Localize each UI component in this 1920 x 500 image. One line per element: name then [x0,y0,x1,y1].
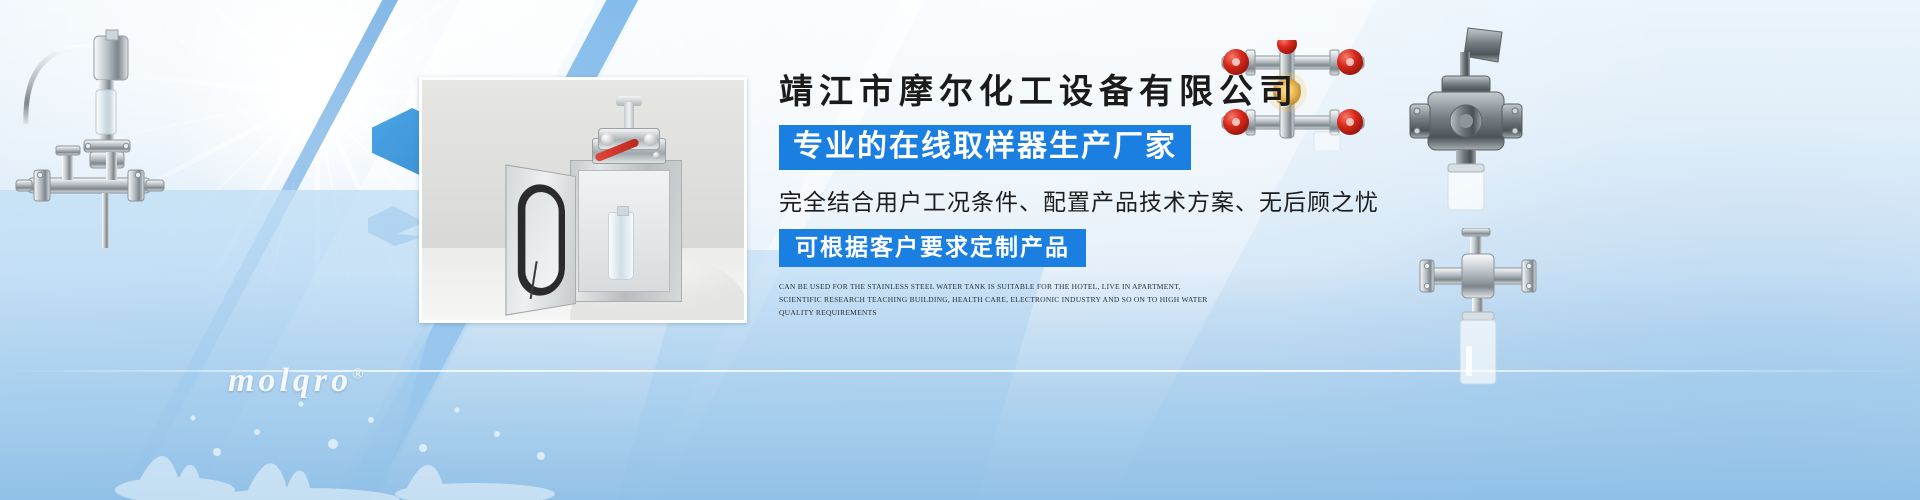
inline-bottle-sampler [1418,228,1538,408]
product-photo [419,77,747,323]
headline-badge: 专业的在线取样器生产厂家 [779,125,1191,170]
registered-trademark-icon: ® [352,367,363,383]
promo-banner: 靖江市摩尔化工设备有限公司 专业的在线取样器生产厂家 完全结合用户工况条件、配置… [0,0,1920,500]
customization-badge: 可根据客户要求定制产品 [779,229,1086,267]
water-splash-graphic [105,360,665,500]
value-proposition-line: 完全结合用户工况条件、配置产品技术方案、无后顾之忧 [779,183,1399,217]
photo-sample-bottle [608,212,634,280]
photo-sampler-head [598,102,660,164]
wall-mounted-sampler-assembly [10,28,170,248]
company-name: 靖江市摩尔化工设备有限公司 [779,72,1399,115]
watermark-text: molqro [228,362,352,399]
photo-open-door [505,164,576,315]
lever-handle-flanged-sampler [1406,22,1526,222]
english-description: CAN BE USED FOR THE STAINLESS STEEL WATE… [779,280,1209,319]
banner-text-block: 靖江市摩尔化工设备有限公司 专业的在线取样器生产厂家 完全结合用户工况条件、配置… [779,72,1399,320]
watermark: molqro® [228,362,363,400]
